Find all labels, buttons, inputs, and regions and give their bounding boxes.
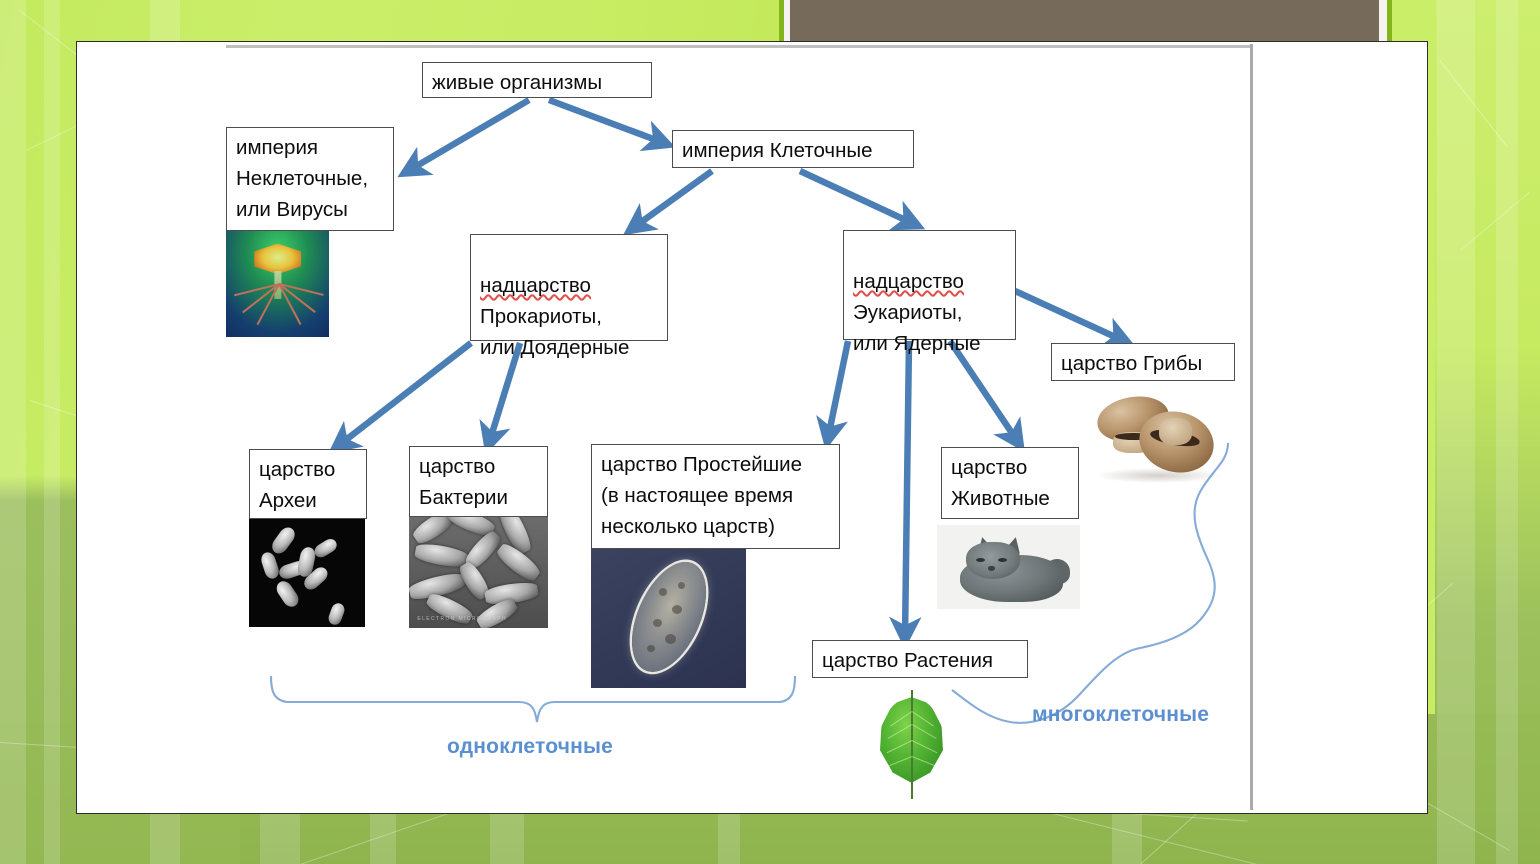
node-empire-acellular[interactable]: империя Неклеточные, или Вирусы (226, 127, 394, 231)
brace-label-multicellular: многоклеточные (1032, 703, 1209, 727)
node-label-rest: Прокариоты, или Доядерные (480, 305, 629, 359)
node-empire-cellular[interactable]: империя Клеточные (672, 130, 914, 168)
paramecium-photo (591, 545, 746, 688)
bacteria-micrograph: ELECTRON MICROGRAPH (409, 511, 548, 628)
sheen-stripe (1496, 0, 1518, 864)
brace-label-unicellular: одноклеточные (447, 735, 613, 759)
node-label-rest: Эукариоты, или Ядерные (853, 301, 981, 355)
leaf-photo (865, 688, 958, 801)
content-panel-right (1256, 41, 1428, 814)
sheen-stripe (1437, 0, 1475, 864)
cat-photo (937, 525, 1080, 609)
node-superkingdom-prokaryotes[interactable]: надцарство Прокариоты, или Доядерные (470, 234, 668, 341)
panel-top-rule (226, 45, 1252, 48)
node-kingdom-plants[interactable]: царство Растения (812, 640, 1028, 678)
node-kingdom-fungi[interactable]: царство Грибы (1051, 343, 1235, 381)
node-kingdom-protists[interactable]: царство Простейшие (в настоящее время не… (591, 444, 840, 549)
bacteriophage-photo (226, 227, 329, 337)
node-kingdom-animals[interactable]: царство Животные (941, 447, 1079, 519)
node-kingdom-bacteria[interactable]: царство Бактерии (409, 446, 548, 517)
node-label-spellchecked: надцарство (480, 274, 591, 297)
slide: ELECTRON MICROGRAPH (0, 0, 1540, 864)
node-label-spellchecked: надцарство (853, 270, 964, 293)
mushroom-photo (1089, 385, 1228, 489)
node-superkingdom-eukaryotes[interactable]: надцарство Эукариоты, или Ядерные (843, 230, 1016, 340)
node-living-organisms[interactable]: живые организмы (422, 62, 652, 98)
sheen-stripe (44, 0, 60, 864)
sheen-stripe (0, 0, 26, 864)
node-kingdom-archaea[interactable]: царство Археи (249, 449, 367, 519)
archaea-micrograph (249, 516, 365, 627)
panel-vertical-divider (1250, 44, 1253, 810)
